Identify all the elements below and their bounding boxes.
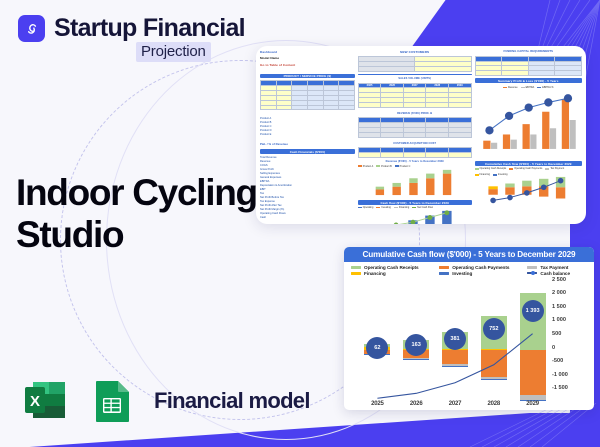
format-label: Financial model — [154, 388, 310, 414]
y-tick: 1 000 — [552, 318, 566, 324]
dashboard-mini-chart-ebitda: Revenue EBITDA EBITDA % — [475, 85, 582, 159]
data-point-label: 381 — [444, 328, 466, 350]
format-badges: X Financial model — [20, 375, 310, 427]
mini-cashflow-chart — [358, 209, 472, 224]
legend-item-financing: Financing — [351, 271, 435, 276]
y-tick: -500 — [552, 359, 563, 365]
legend-swatch-yellow — [351, 272, 361, 275]
y-tick: -1 000 — [552, 373, 568, 379]
brand-logo: Startup Financial — [18, 14, 245, 43]
legend-swatch-line — [527, 272, 537, 274]
chart-legend: Operating Cash Receipts Operating Cash P… — [344, 262, 594, 278]
dashboard-preview-card[interactable]: Dashboard Model Name Go to Table of Cont… — [256, 46, 586, 224]
dashboard-toc-link[interactable]: Go to Table of Content — [260, 63, 355, 67]
dashboard-section-title-0: PRODUCT / SERVICE PRICE ($) — [260, 74, 355, 79]
dashboard-table-sales-volume: 20252026202720282029 — [358, 83, 472, 108]
dashboard-mini-chart-cumulative: Cumulative Cash flow ($'000) - 5 Years t… — [475, 161, 582, 207]
chart-bars-layer: 621633817521 393 — [358, 280, 552, 393]
x-tick: 2026 — [397, 401, 436, 407]
data-point-label: 62 — [366, 337, 388, 359]
legend-swatch-green — [351, 266, 361, 269]
legend-item-tax-payment: Tax Payment — [527, 265, 588, 270]
dashboard-section-title-7: CUSTOMER ACQUISITION COST — [358, 142, 472, 146]
x-tick: 2027 — [436, 401, 475, 407]
dashboard-table-green-supplies — [358, 56, 472, 71]
page-title: Indoor Cycling Studio — [16, 172, 286, 256]
legend-item-investing: Investing — [439, 271, 523, 276]
dashboard-section-title-1: NEW CUSTOMERS — [358, 50, 472, 54]
svg-text:X: X — [30, 393, 40, 410]
mini-ebitda-chart — [475, 89, 582, 151]
dashboard-table-funding — [475, 56, 582, 76]
google-sheets-icon — [86, 375, 138, 427]
mini-revenue-bars — [358, 168, 472, 196]
poster-canvas: Startup Financial Projection Indoor Cycl… — [0, 0, 600, 447]
dashboard-table-prices — [260, 80, 355, 110]
legend-swatch-blue — [439, 272, 449, 275]
legend-item-cash-balance: Cash balance — [527, 271, 588, 276]
y-tick: 0 — [552, 346, 555, 352]
microsoft-excel-icon: X — [20, 375, 72, 427]
y-tick: 1 500 — [552, 305, 566, 311]
brand-subtitle: Projection — [136, 42, 211, 62]
dashboard-section-title-5: SALES VOLUME (UNITS) — [358, 77, 472, 81]
dashboard-section-title-8: P&L / % of Revenue — [260, 143, 355, 147]
mini-chart-legend-cumulative: Operating Cash Receipts Operating Cash P… — [475, 167, 582, 176]
dashboard-heading: Dashboard — [260, 50, 355, 54]
x-tick: 2028 — [474, 401, 513, 407]
legend-swatch-gray — [527, 266, 537, 269]
y-tick: -1 500 — [552, 386, 568, 392]
data-point-label: 752 — [483, 318, 505, 340]
dashboard-column-middle: NEW CUSTOMERS Green Supplies SALES VOLUM… — [358, 50, 472, 220]
legend-item-operating-cash-receipts: Operating Cash Receipts — [351, 265, 435, 270]
y-tick: 2 500 — [552, 278, 566, 284]
y-tick: 500 — [552, 332, 561, 338]
chart-title: Cumulative Cash flow ($'000) - 5 Years t… — [344, 247, 594, 262]
legend-swatch-orange — [439, 266, 449, 269]
dashboard-table-revenue — [358, 117, 472, 137]
dashboard-section-title-6: REVENUE ($'000) PROD. B — [358, 112, 472, 116]
dashboard-mini-chart-cashflow: Cash flow ($'000) - 5 Years to December … — [358, 200, 472, 224]
dashboard-mini-chart-revenue: Revenue ($'000) - 5 Years to December 20… — [358, 160, 472, 198]
dashboard-section-title-2: FUNDING CAPITAL REQUIREMENTS — [475, 50, 582, 54]
y-tick: 2 000 — [552, 291, 566, 297]
chart-plot-area: 621633817521 393 2 5002 0001 5001 000500… — [344, 278, 594, 411]
swirl-logo-icon — [18, 15, 45, 42]
dashboard-product-rows: Product A Product B Product C Product D … — [260, 117, 355, 137]
data-point-label: 1 393 — [522, 300, 544, 322]
dashboard-section-title-3: Green Supplies — [358, 74, 472, 75]
dashboard-table-cac — [358, 147, 472, 158]
dashboard-section-title-9: Cash Financials ($'000) — [260, 149, 355, 154]
dashboard-column-right: FUNDING CAPITAL REQUIREMENTS Summary Pro… — [475, 50, 582, 220]
dashboard-section-title-4: Summary Profit & Loss ($'000) - 5 Years — [475, 78, 582, 83]
cumulative-cashflow-chart-card[interactable]: Cumulative Cash flow ($'000) - 5 Years t… — [344, 247, 594, 410]
data-point-label: 163 — [405, 334, 427, 356]
legend-item-operating-cash-payments: Operating Cash Payments — [439, 265, 523, 270]
chart-y-axis-labels: 2 5002 0001 5001 0005000-500-1 000-1 500 — [552, 278, 590, 393]
brand-name: Startup Financial — [54, 14, 245, 43]
chart-x-axis-labels: 20252026202720282029 — [358, 401, 552, 407]
x-tick: 2029 — [513, 401, 552, 407]
x-tick: 2025 — [358, 401, 397, 407]
mini-cumulative-chart — [475, 176, 582, 206]
dashboard-subheading: Model Name — [260, 56, 355, 60]
